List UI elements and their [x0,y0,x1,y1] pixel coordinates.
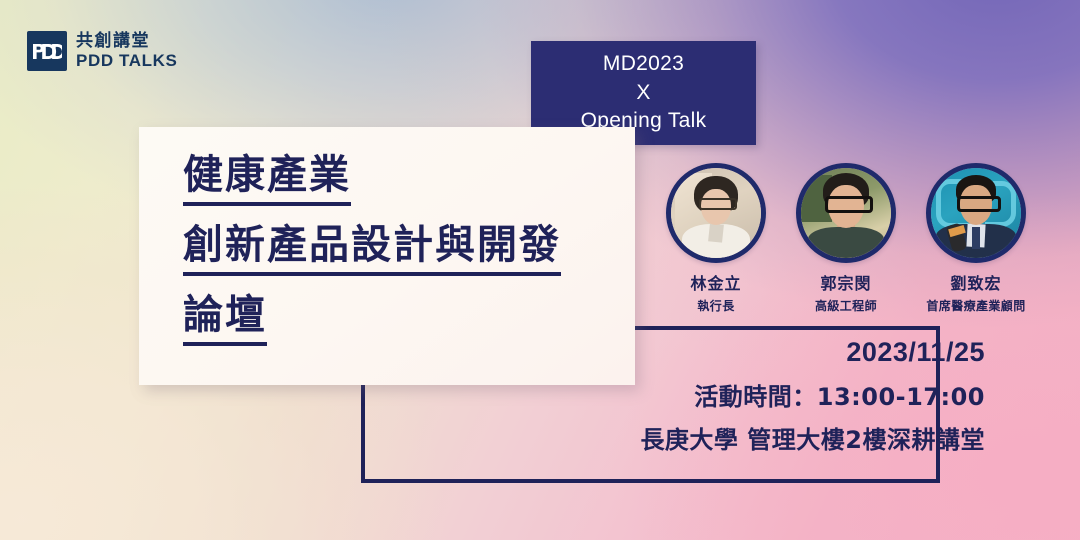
event-details: 2023/11/25 活動時間：13:00-17:00 長庚大學 管理大樓2樓深… [465,338,985,453]
event-poster: 共創講堂 PDD TALKS MD2023 X Opening Talk 健康產… [0,0,1080,540]
speaker-avatar-3 [926,163,1026,263]
speaker-avatar-1 [666,163,766,263]
banner-line-1: MD2023 [603,50,684,79]
speaker-avatar-2 [796,163,896,263]
speaker-list: 林金立 執行長 郭宗閔 高級工程師 劉致宏 首席醫療產業顧問 [660,163,1032,314]
event-venue: 長庚大學 管理大樓2樓深耕講堂 [465,427,985,453]
speaker-role-3: 首席醫療產業顧問 [926,297,1025,314]
title-row-2: 創新產品設計與開發 [183,225,635,295]
speaker-card-1: 林金立 執行長 [660,163,772,314]
brand-logo: 共創講堂 PDD TALKS [27,31,177,71]
speaker-card-2: 郭宗閔 高級工程師 [790,163,902,314]
speaker-role-2: 高級工程師 [815,297,877,314]
brand-name-zh: 共創講堂 [76,32,177,50]
speaker-name-2: 郭宗閔 [820,270,871,294]
pdd-logo-icon [27,31,67,71]
poster-title-line-2: 創新產品設計與開發 [183,225,561,276]
event-time: 活動時間：13:00-17:00 [465,384,985,410]
event-date: 2023/11/25 [465,338,985,368]
brand-logo-text: 共創講堂 PDD TALKS [76,32,177,70]
poster-title-line-3: 論壇 [183,295,267,346]
title-row-1: 健康產業 [183,155,635,225]
speaker-card-3: 劉致宏 首席醫療產業顧問 [920,163,1032,314]
brand-name-en: PDD TALKS [76,52,177,70]
poster-title-line-1: 健康產業 [183,155,351,206]
speaker-role-1: 執行長 [697,297,734,314]
speaker-name-3: 劉致宏 [950,270,1001,294]
speaker-name-1: 林金立 [690,270,741,294]
banner-line-2: X [636,79,650,108]
